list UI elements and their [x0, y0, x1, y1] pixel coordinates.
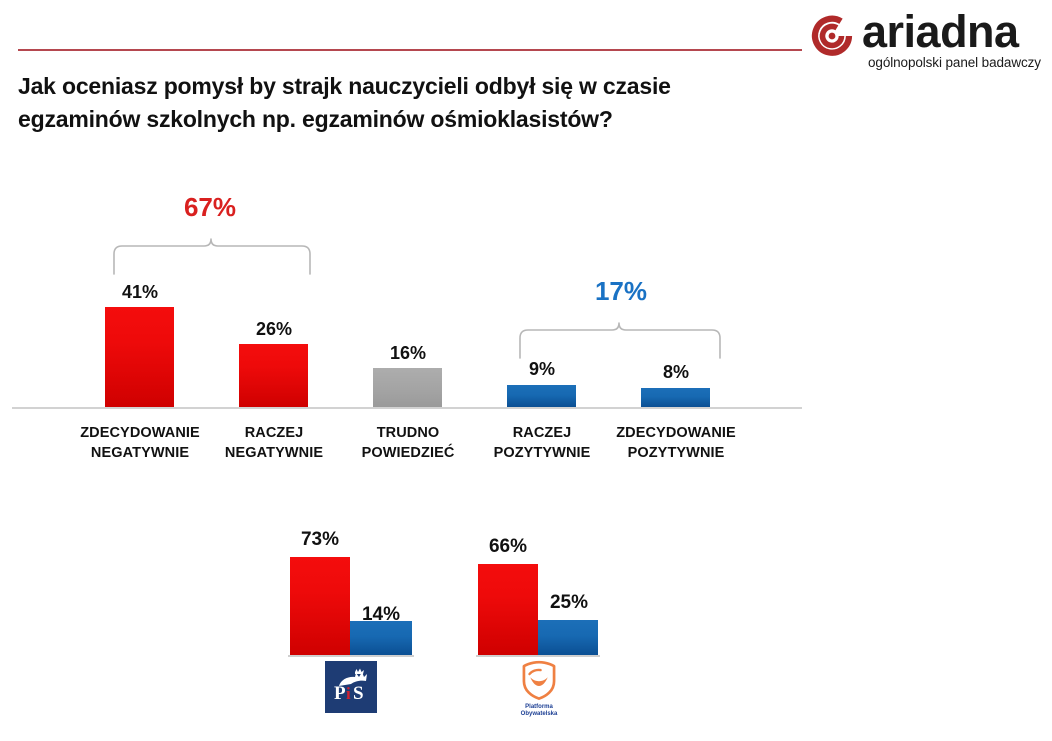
category-label-zdecydowanie-pozytywnie: ZDECYDOWANIE POZYTYWNIE — [596, 423, 756, 463]
page-title-line-2: egzaminów szkolnych np. egzaminów ośmiok… — [18, 106, 613, 132]
ariadna-tagline: ogólnopolski panel badawczy — [868, 55, 1041, 70]
bar-value-zdecydowanie-negatywnie: 41% — [90, 282, 190, 303]
bar-value-raczej-pozytywnie: 9% — [492, 359, 592, 380]
bar-zdecydowanie-negatywnie — [105, 307, 174, 407]
cat-line-2: NEGATYWNIE — [225, 445, 323, 461]
ariadna-logo: ariadna ogólnopolski panel badawczy — [806, 8, 1048, 70]
chart-baseline — [12, 407, 802, 409]
svg-text:P: P — [334, 683, 346, 704]
cat-line-2: NEGATYWNIE — [91, 445, 189, 461]
summary-label-negative: 67% — [155, 192, 265, 223]
bar-value-raczej-negatywnie: 26% — [224, 319, 324, 340]
po-logo-caption: Platforma Obywatelska — [504, 704, 574, 718]
bar-value-trudno-powiedziec: 16% — [358, 343, 458, 364]
pis-chart-baseline — [288, 655, 414, 657]
summary-label-positive: 17% — [566, 276, 676, 307]
ariadna-wordmark: ariadna — [862, 6, 1019, 58]
bar-trudno-powiedziec — [373, 368, 442, 407]
brace-positive — [518, 318, 722, 360]
pis-emblem-icon: P i S — [325, 661, 377, 713]
page-title-line-1: Jak oceniasz pomysł by strajk nauczyciel… — [18, 73, 671, 99]
ariadna-spiral-icon — [806, 10, 858, 62]
bar-raczej-pozytywnie — [507, 385, 576, 407]
brace-negative — [112, 234, 312, 276]
po-chart-baseline — [476, 655, 600, 657]
pis-value-negative: 73% — [275, 529, 365, 551]
svg-text:i: i — [346, 684, 351, 703]
po-value-negative: 66% — [463, 536, 553, 558]
po-caption-line-1: Platforma — [525, 704, 553, 710]
cat-line-1: ZDECYDOWANIE — [80, 425, 200, 441]
po-bar-positive — [538, 620, 598, 655]
header-divider — [18, 49, 802, 51]
bar-raczej-negatywnie — [239, 344, 308, 407]
pis-logo: P i S — [325, 661, 377, 713]
cat-line-2: POZYTYWNIE — [628, 445, 725, 461]
slide-canvas: ariadna ogólnopolski panel badawczy Jak … — [0, 0, 1052, 741]
pis-bar-positive — [350, 621, 412, 655]
cat-line-1: TRUDNO — [377, 425, 440, 441]
po-value-positive: 25% — [524, 592, 614, 614]
cat-line-1: RACZEJ — [513, 425, 572, 441]
svg-text:S: S — [353, 683, 364, 704]
cat-line-2: POWIEDZIEĆ — [362, 445, 455, 461]
page-title: Jak oceniasz pomysł by strajk nauczyciel… — [18, 70, 778, 136]
bar-zdecydowanie-pozytywnie — [641, 388, 710, 407]
po-emblem-icon — [510, 659, 568, 705]
pis-value-positive: 14% — [336, 604, 426, 626]
cat-line-2: POZYTYWNIE — [494, 445, 591, 461]
cat-line-1: RACZEJ — [245, 425, 304, 441]
po-caption-line-2: Obywatelska — [521, 711, 558, 717]
bar-value-zdecydowanie-pozytywnie: 8% — [626, 362, 726, 383]
cat-line-1: ZDECYDOWANIE — [616, 425, 736, 441]
